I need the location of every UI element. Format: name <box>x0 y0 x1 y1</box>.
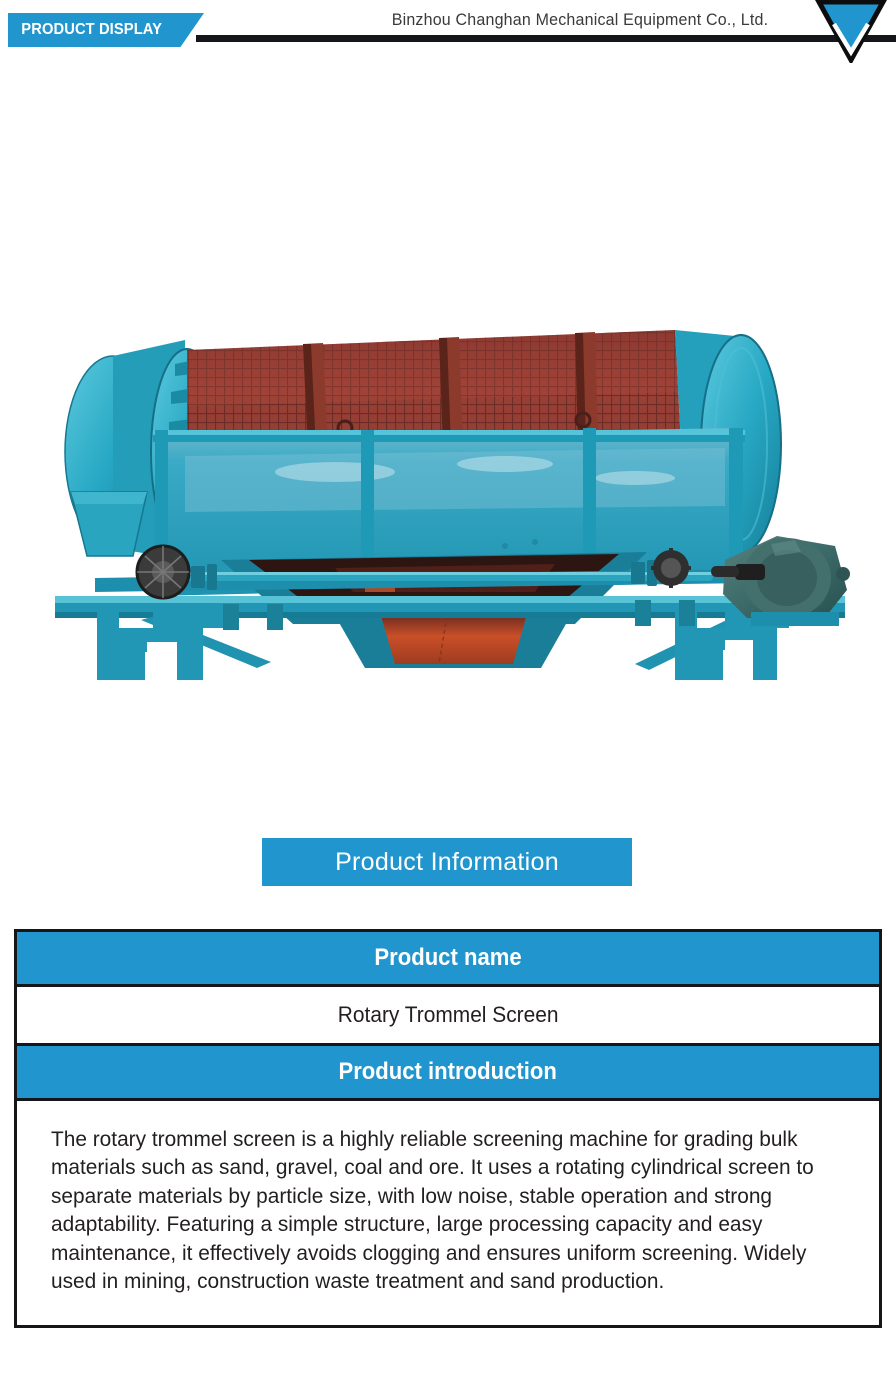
table-row-header-product-introduction: Product introduction <box>17 1046 879 1101</box>
company-name: Binzhou Changhan Mechanical Equipment Co… <box>338 11 823 30</box>
product-introduction-text: The rotary trommel screen is a highly re… <box>51 1125 821 1295</box>
table-row-value-product-name: Rotary Trommel Screen <box>17 987 879 1046</box>
header-divider-bar <box>196 35 896 42</box>
table-row-body-product-introduction: The rotary trommel screen is a highly re… <box>17 1101 879 1325</box>
product-name-value-label: Rotary Trommel Screen <box>338 1002 559 1028</box>
product-name-header-label: Product name <box>374 944 521 972</box>
rotary-trommel-screen-image <box>35 260 865 680</box>
product-display-badge-label: PRODUCT DISPLAY <box>8 21 162 39</box>
triangle-v-logo-icon <box>815 0 887 63</box>
table-row-header-product-name: Product name <box>17 932 879 987</box>
product-information-banner: Product Information <box>262 838 632 886</box>
product-information-table: Product name Rotary Trommel Screen Produ… <box>14 929 882 1328</box>
page-header: PRODUCT DISPLAY Binzhou Changhan Mechani… <box>0 0 896 70</box>
product-introduction-header-label: Product introduction <box>339 1058 557 1086</box>
product-photo-area <box>0 70 896 820</box>
product-information-banner-label: Product Information <box>335 848 559 877</box>
product-display-badge: PRODUCT DISPLAY <box>8 13 204 47</box>
